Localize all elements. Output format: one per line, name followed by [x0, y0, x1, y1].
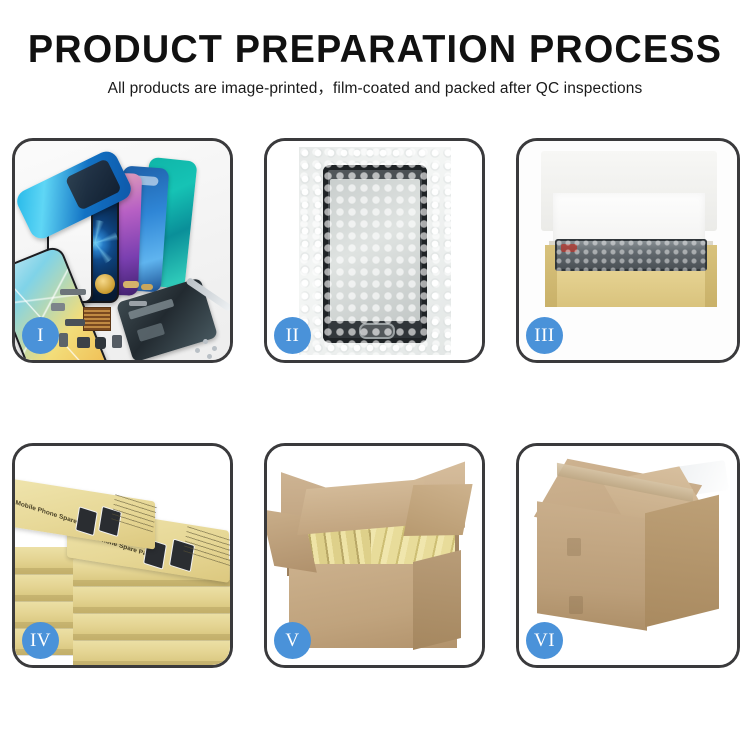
- screw: [203, 339, 208, 344]
- page-subtitle: All products are image-printed，film-coat…: [0, 79, 750, 99]
- wrapped-screen: [323, 165, 427, 343]
- box-phone-image: [75, 506, 98, 536]
- step-badge-3: III: [526, 317, 563, 354]
- packed-screen: [555, 239, 707, 271]
- step-panel-5: V: [264, 443, 485, 668]
- spare-part: [123, 281, 139, 288]
- spare-part: [112, 335, 122, 348]
- step-panel-6: VI: [516, 443, 740, 668]
- step-badge-1: I: [22, 317, 59, 354]
- steps-grid: I II: [12, 138, 740, 668]
- spare-part: [60, 289, 86, 295]
- stacked-box: [73, 613, 230, 640]
- step-panel-3: III: [516, 138, 740, 363]
- spare-part: [141, 284, 153, 290]
- screw: [212, 346, 217, 351]
- step-badge-4: IV: [22, 622, 59, 659]
- connector-chip: [83, 307, 111, 331]
- spare-part: [77, 337, 90, 348]
- carton-crease: [567, 538, 581, 556]
- screen-glass: [330, 179, 420, 321]
- spare-part: [65, 319, 85, 326]
- spare-part: [129, 301, 147, 306]
- step-badge-2: II: [274, 317, 311, 354]
- carton-crease: [569, 596, 583, 614]
- stacked-box: [73, 640, 230, 665]
- carton-side-wall: [645, 495, 719, 627]
- step-badge-5: V: [274, 622, 311, 659]
- spare-part: [95, 337, 106, 349]
- step-panel-2: II: [264, 138, 485, 363]
- gold-coil-part: [95, 274, 115, 294]
- screw: [195, 348, 200, 353]
- carton-flap-right: [403, 484, 472, 536]
- carton-front-wall: [537, 501, 647, 630]
- spare-part: [51, 303, 65, 311]
- step-panel-4: Mobile Phone Spare Parts Mobile Phone Sp…: [12, 443, 233, 668]
- product-preparation-infographic: PRODUCT PREPARATION PROCESS All products…: [0, 0, 750, 750]
- spare-part: [59, 333, 68, 347]
- stacked-box: [73, 586, 230, 613]
- page-title: PRODUCT PREPARATION PROCESS: [11, 28, 739, 72]
- home-button: [359, 323, 395, 339]
- screw: [207, 354, 212, 359]
- header: PRODUCT PREPARATION PROCESS All products…: [0, 0, 750, 99]
- bubble-wrap-sheet: [299, 147, 451, 355]
- step-badge-6: VI: [526, 622, 563, 659]
- carton-side-wall: [413, 550, 461, 650]
- step-panel-1: I: [12, 138, 233, 363]
